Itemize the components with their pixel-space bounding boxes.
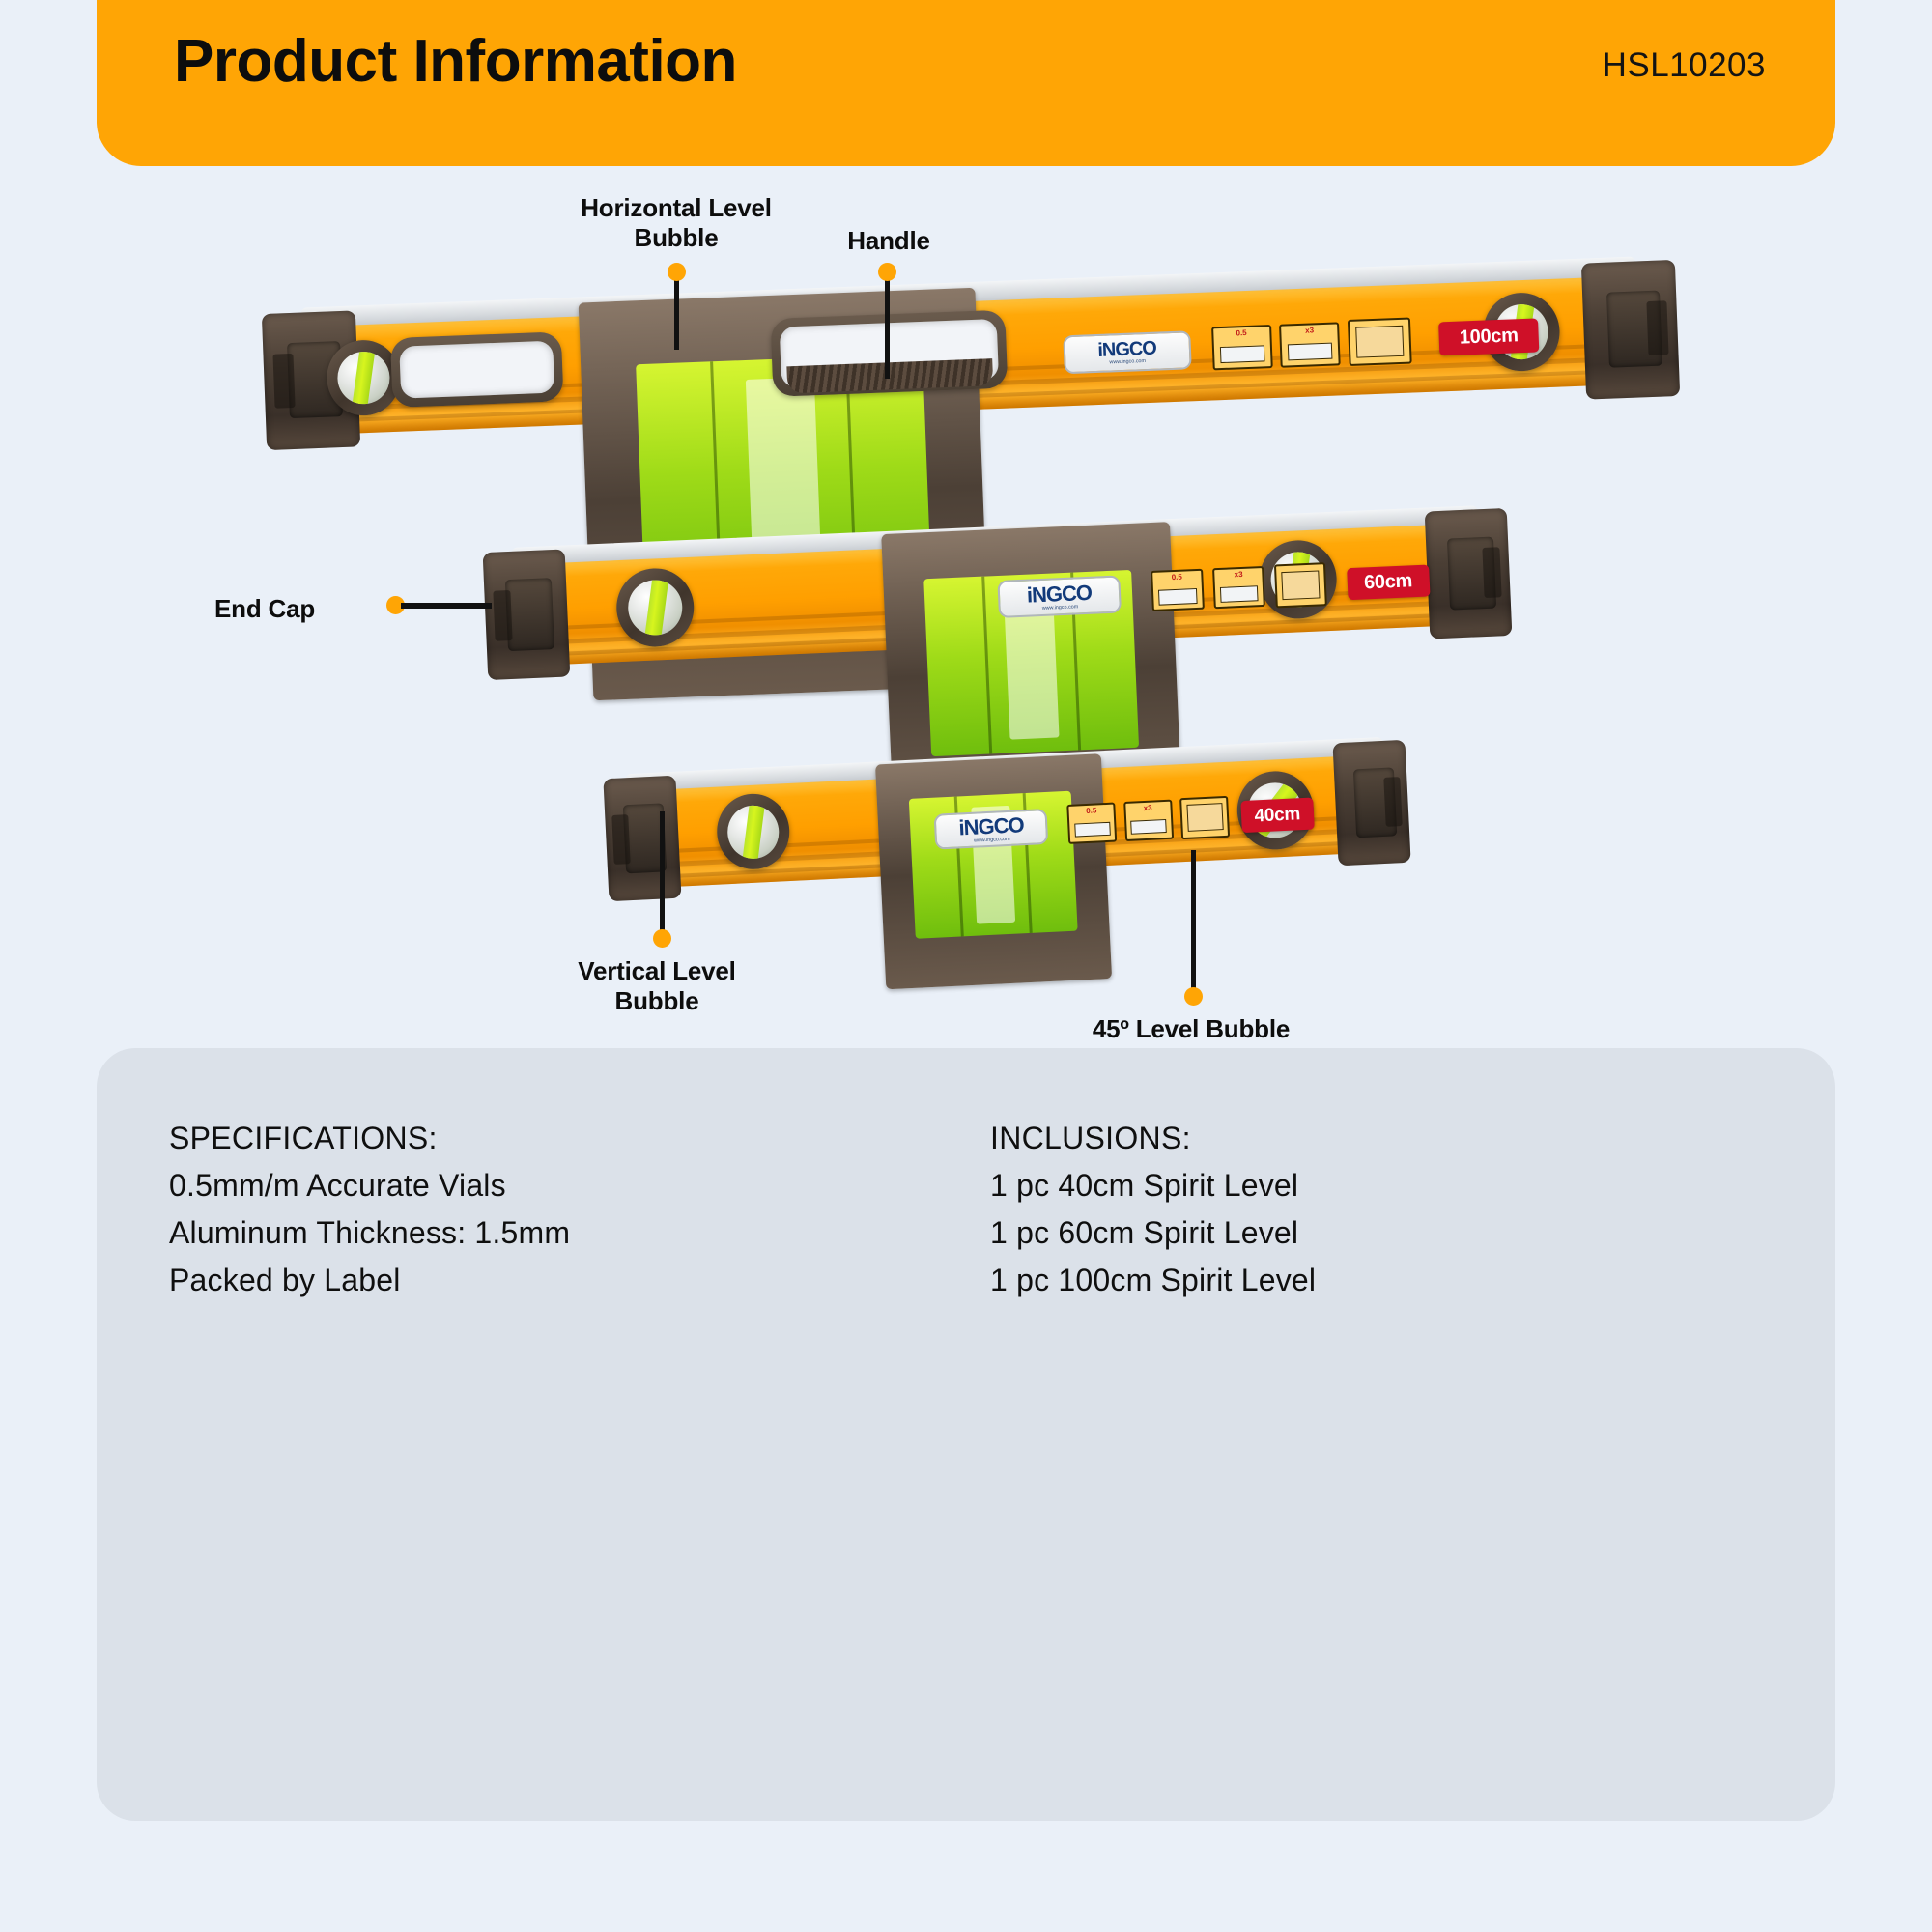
size-tag-60: 60cm <box>1347 564 1431 600</box>
badge-text-40-a: 0.5 <box>1069 807 1114 816</box>
vial-glass-100-l <box>337 351 391 406</box>
inclusions-line-3: 1 pc 100cm Spirit Level <box>990 1263 1316 1298</box>
certification-badge-100-c <box>1348 318 1411 366</box>
certification-badge-60-c <box>1274 562 1327 608</box>
spirit-level-40cm: iNGCO www.ingco.com 0.5 x3 40cm <box>601 736 1413 906</box>
vial-liquid-100-l <box>353 351 376 406</box>
certification-badge-40-b: x3 <box>1123 800 1174 841</box>
header-bar: Product Information HSL10203 <box>97 0 1835 166</box>
end-cap-left-40 <box>603 776 681 901</box>
ingco-wordmark-40: iNGCO <box>958 814 1024 838</box>
end-cap-rib-60-l <box>493 590 513 641</box>
ingco-url-40: www.ingco.com <box>974 837 1010 843</box>
vial-glass-40-l <box>726 804 780 859</box>
inclusions-column: INCLUSIONS: 1 pc 40cm Spirit Level 1 pc … <box>990 1121 1316 1310</box>
vial-mark-60-a <box>981 576 992 754</box>
badge-inner-100-a <box>1220 346 1265 363</box>
horizontal-level-bubble-40 <box>875 753 1112 990</box>
certification-badge-60-a: 0.5 <box>1151 569 1204 611</box>
callout-dot-vertical-level-bubble <box>653 929 671 948</box>
callout-leader-vertical-level-bubble <box>660 811 665 937</box>
badge-inner-60-c <box>1281 570 1321 600</box>
inclusions-heading: INCLUSIONS: <box>990 1121 1316 1156</box>
inclusions-line-1: 1 pc 40cm Spirit Level <box>990 1168 1316 1204</box>
specifications-column: SPECIFICATIONS: 0.5mm/m Accurate Vials A… <box>169 1121 570 1310</box>
badge-text-100-a: 0.5 <box>1213 328 1269 338</box>
end-cap-right-60 <box>1424 508 1512 639</box>
handle-100-left <box>390 331 563 408</box>
specifications-heading: SPECIFICATIONS: <box>169 1121 570 1156</box>
badge-text-40-b: x3 <box>1125 804 1170 813</box>
badge-inner-100-b <box>1288 343 1333 360</box>
level-body-40: iNGCO www.ingco.com 0.5 x3 40cm <box>601 736 1413 906</box>
callout-dot-horizontal-level-bubble <box>668 263 686 281</box>
callout-label-45-level-bubble: 45º Level Bubble <box>1046 1014 1336 1044</box>
handle-hole-100-left <box>399 340 554 398</box>
callout-leader-end-cap <box>401 603 492 609</box>
end-cap-slot-60-l <box>505 578 554 651</box>
end-cap-right-100 <box>1581 259 1680 399</box>
product-code: HSL10203 <box>1603 46 1766 85</box>
vial-liquid-40-l <box>742 804 765 859</box>
ingco-wordmark-60: iNGCO <box>1026 582 1092 606</box>
certification-badge-100-b: x3 <box>1279 322 1340 367</box>
ingco-logo-40: iNGCO www.ingco.com <box>934 809 1049 850</box>
certification-badge-100-a: 0.5 <box>1211 325 1272 370</box>
page-title: Product Information <box>174 27 737 96</box>
specifications-line-1: 0.5mm/m Accurate Vials <box>169 1168 570 1204</box>
callout-label-handle: Handle <box>763 226 1014 256</box>
end-cap-rib-100-l <box>272 354 295 409</box>
callout-dot-handle <box>878 263 896 281</box>
ingco-logo-100: iNGCO www.ingco.com <box>1063 330 1192 375</box>
callout-label-vertical-level-bubble: Vertical Level Bubble <box>512 956 802 1016</box>
badge-text-60-a: 0.5 <box>1153 573 1202 582</box>
end-cap-rib-40-l <box>611 814 630 865</box>
level-body-100: iNGCO www.ingco.com 0.5 x3 100cm <box>259 255 1684 454</box>
specifications-line-3: Packed by Label <box>169 1263 570 1298</box>
spirit-level-100cm: iNGCO www.ingco.com 0.5 x3 100cm <box>259 255 1684 454</box>
end-cap-rib-60-r <box>1482 547 1502 598</box>
info-panel: SPECIFICATIONS: 0.5mm/m Accurate Vials A… <box>97 1048 1835 1821</box>
certification-badge-40-a: 0.5 <box>1066 803 1117 844</box>
badge-inner-60-a <box>1158 588 1197 605</box>
end-cap-right-40 <box>1333 740 1411 866</box>
vial-liquid-60-l <box>644 579 668 636</box>
ingco-logo-60: iNGCO www.ingco.com <box>997 575 1122 618</box>
size-tag-40: 40cm <box>1240 798 1315 833</box>
ingco-wordmark-100: iNGCO <box>1097 338 1156 359</box>
callout-leader-45-level-bubble <box>1191 850 1196 995</box>
end-cap-rib-40-r <box>1384 777 1403 827</box>
badge-inner-100-c <box>1355 326 1404 358</box>
product-information-page: Product Information HSL10203 <box>0 0 1932 1932</box>
ingco-url-100: www.ingco.com <box>1109 358 1146 365</box>
badge-text-100-b: x3 <box>1282 326 1338 335</box>
callout-leader-horizontal-level-bubble <box>674 270 679 350</box>
vial-glass-60-l <box>627 579 683 636</box>
badge-text-60-b: x3 <box>1214 570 1263 580</box>
size-tag-100: 100cm <box>1438 318 1539 355</box>
badge-inner-60-b <box>1220 586 1259 603</box>
badge-inner-40-c <box>1186 803 1223 832</box>
end-cap-left-60 <box>483 550 571 680</box>
callout-label-end-cap: End Cap <box>214 594 388 624</box>
certification-badge-40-c <box>1179 795 1230 839</box>
ingco-url-60: www.ingco.com <box>1041 604 1078 611</box>
badge-inner-40-b <box>1130 818 1167 834</box>
certification-badge-60-b: x3 <box>1212 566 1265 609</box>
inclusions-line-2: 1 pc 60cm Spirit Level <box>990 1215 1316 1251</box>
specifications-line-2: Aluminum Thickness: 1.5mm <box>169 1215 570 1251</box>
badge-inner-40-a <box>1074 821 1111 837</box>
callout-dot-45-level-bubble <box>1184 987 1203 1006</box>
callout-leader-handle <box>885 270 890 379</box>
end-cap-rib-100-r <box>1646 300 1668 355</box>
